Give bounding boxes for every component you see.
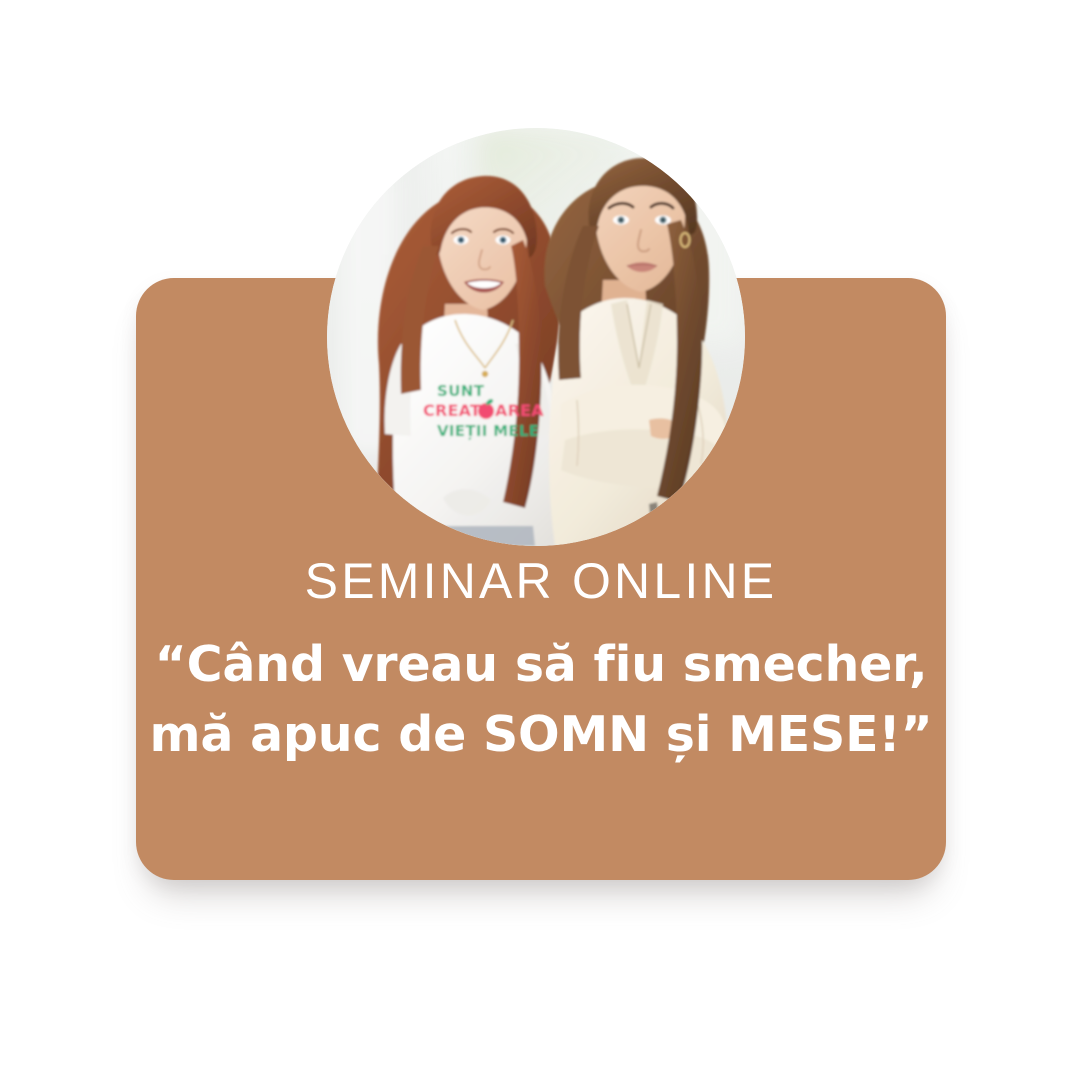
promo-stage: SUNT CREAT AREA VIEȚII MELE — [0, 0, 1080, 1080]
speakers-photo-illustration: SUNT CREAT AREA VIEȚII MELE — [327, 128, 745, 546]
speakers-photo-circle: SUNT CREAT AREA VIEȚII MELE — [327, 128, 745, 546]
